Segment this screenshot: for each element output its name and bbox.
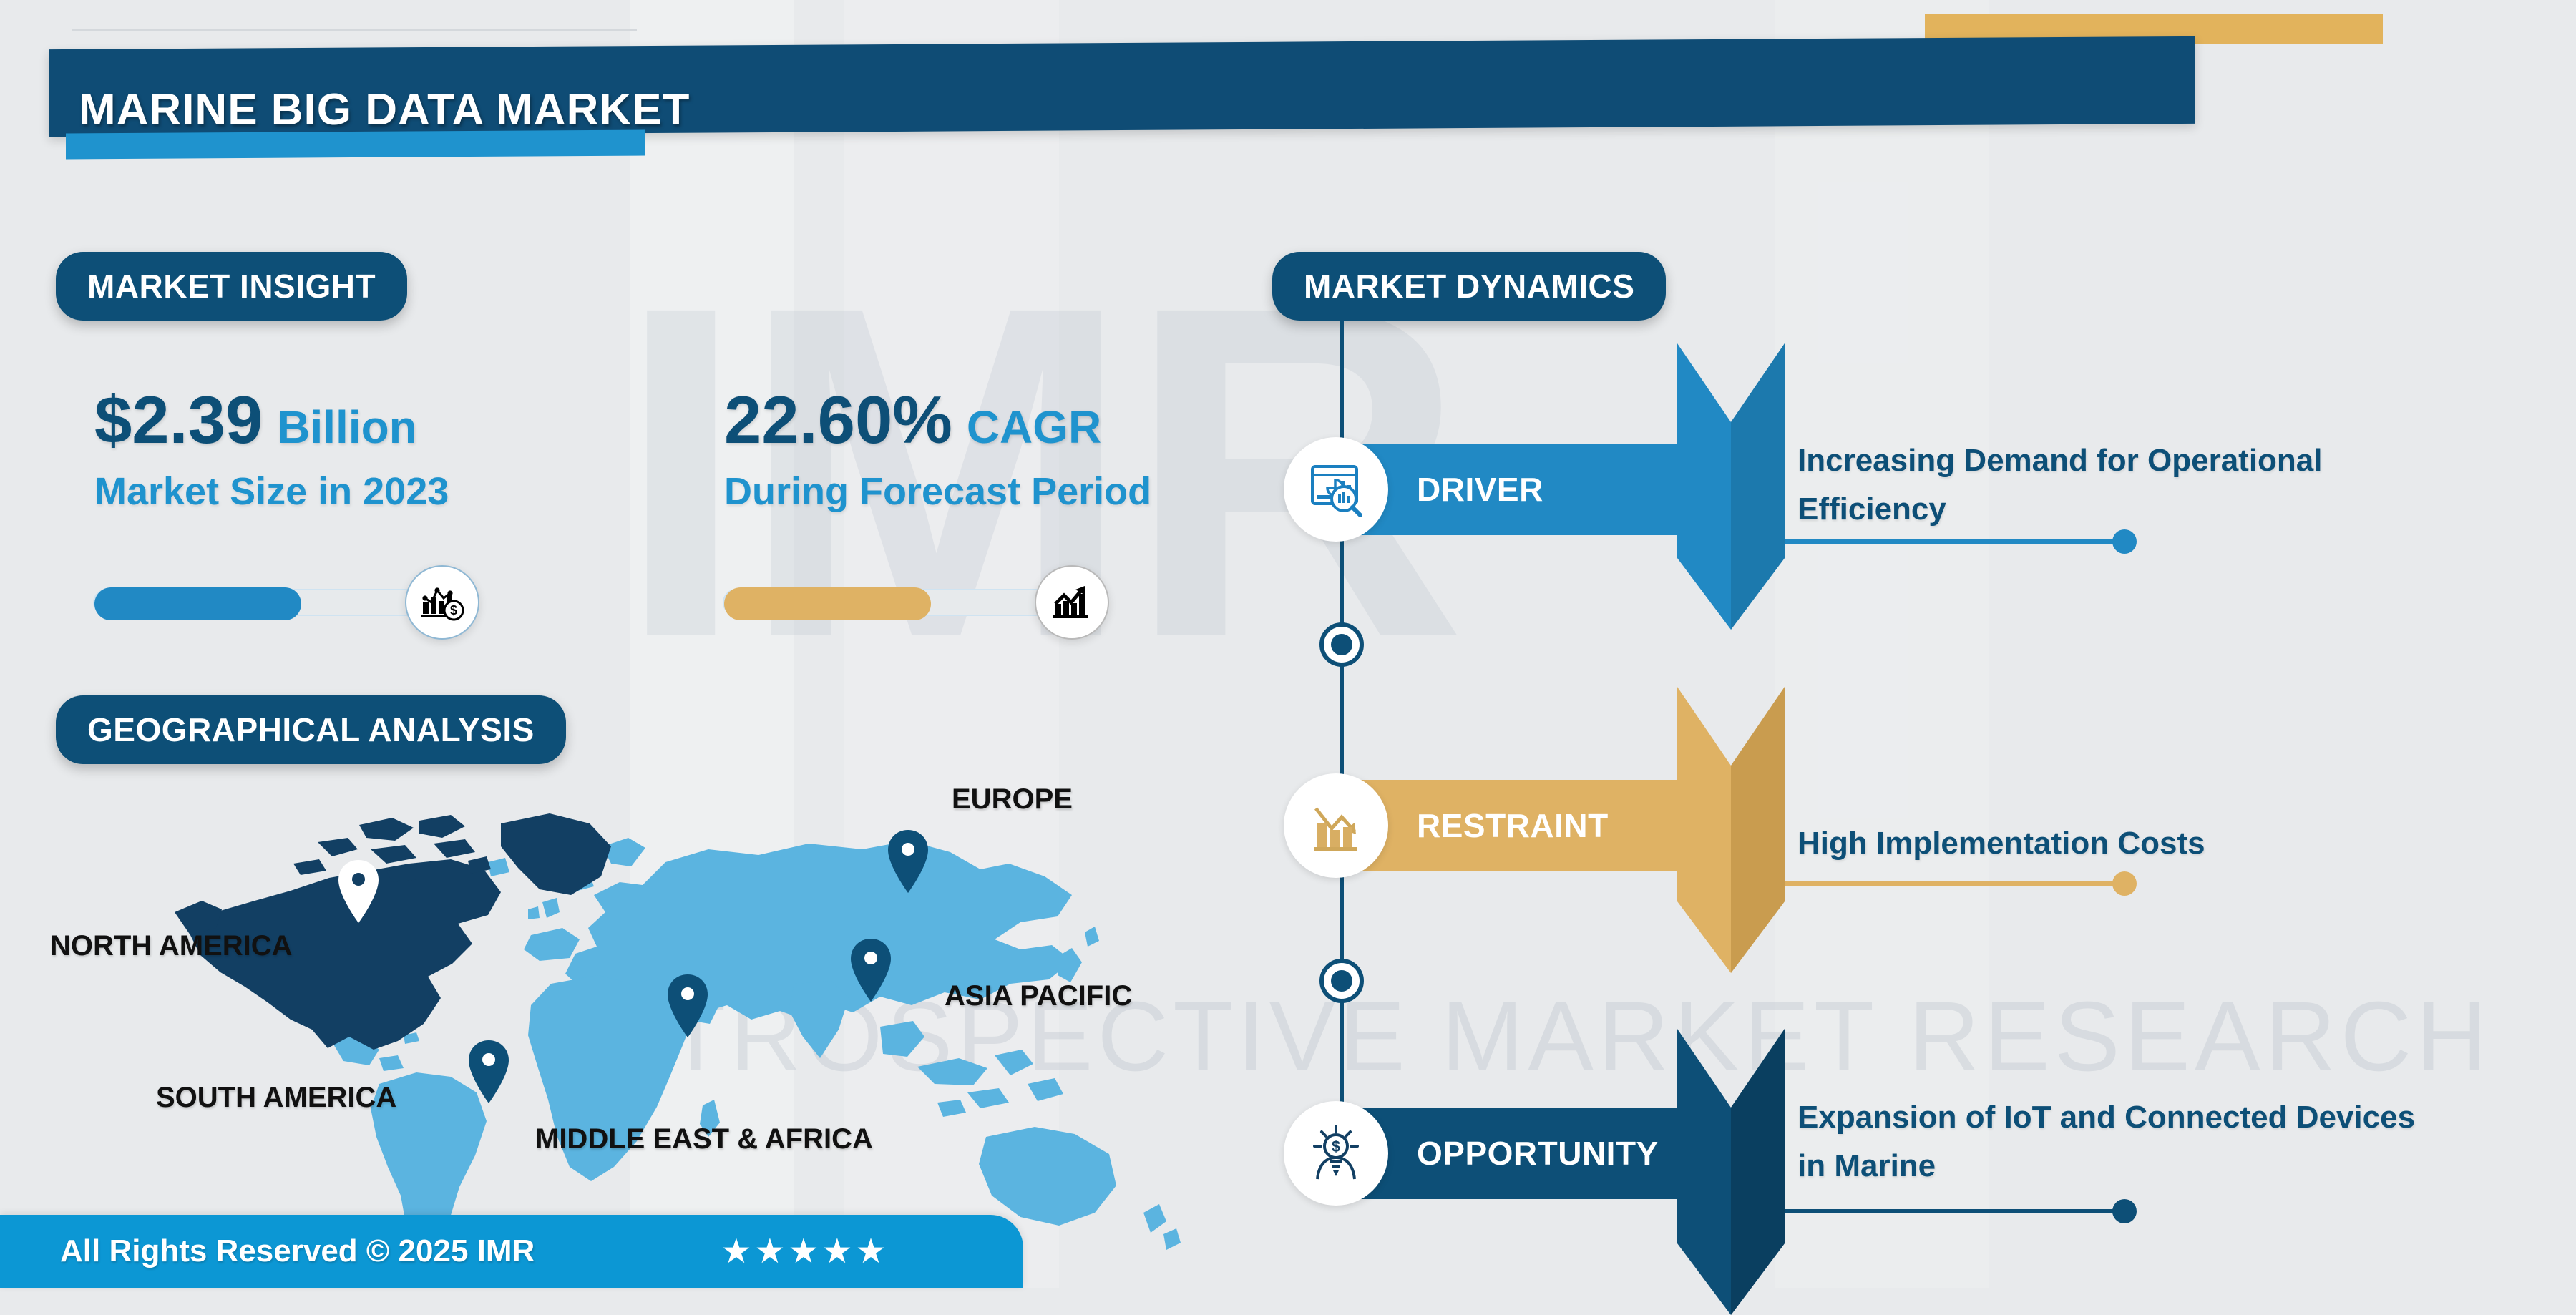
driver-description: Increasing Demand for Operational Effici… (1797, 436, 2427, 534)
header-blue-accent (66, 130, 645, 160)
infographic-canvas: IMR INTROSPECTIVE MARKET RESEARCH MARINE… (0, 0, 2576, 1288)
declining-bar-chart-icon (1284, 773, 1388, 878)
section-label-market-insight: MARKET INSIGHT (56, 252, 407, 321)
bar-chart-dollar-icon: $ (405, 565, 479, 640)
kpi-value-row: $2.39 Billion (94, 386, 449, 454)
opportunity-description: Expansion of IoT and Connected Devices i… (1797, 1093, 2427, 1191)
rating-stars-icon: ★★★★★ (721, 1231, 889, 1271)
region-label-south-america: SOUTH AMERICA (156, 1082, 396, 1114)
region-label-asia-pacific: ASIA PACIFIC (945, 980, 1132, 1012)
market-insight-label: MARKET INSIGHT (87, 267, 376, 305)
progress-track (723, 589, 1059, 616)
progress-track (93, 589, 429, 616)
kpi-market-size: $2.39 Billion Market Size in 2023 (94, 386, 449, 514)
kpi-market-size-unit: Billion (277, 404, 417, 450)
map-pin-europe (886, 828, 930, 894)
header-thin-rule (72, 29, 637, 31)
restraint-label: RESTRAINT (1417, 806, 1609, 845)
map-pin-middle-east-africa (665, 973, 710, 1039)
map-pin-south-america (467, 1039, 511, 1105)
market-size-progress: $ (93, 565, 479, 640)
progress-fill (94, 587, 301, 620)
restraint-leader-dot (2112, 871, 2137, 896)
map-pin-asia-pacific (849, 937, 893, 1003)
region-label-middle-east-africa: MIDDLE EAST & AFRICA (535, 1123, 873, 1155)
restraint-description: High Implementation Costs (1797, 819, 2205, 868)
market-dynamics-label: MARKET DYNAMICS (1304, 267, 1634, 305)
svg-text:$: $ (450, 603, 457, 617)
copyright-text: All Rights Reserved © 2025 IMR (60, 1233, 535, 1269)
svg-text:$: $ (1332, 1138, 1340, 1155)
lightbulb-dollar-icon: $ (1284, 1101, 1388, 1206)
opportunity-label: OPPORTUNITY (1417, 1134, 1659, 1173)
kpi-value-row: 22.60% CAGR (724, 386, 1151, 454)
region-label-north-america: NORTH AMERICA (50, 930, 293, 962)
section-label-geographical-analysis: GEOGRAPHICAL ANALYSIS (56, 695, 566, 764)
cagr-progress (723, 565, 1109, 640)
dynamics-node-connector (1319, 959, 1364, 1003)
kpi-cagr-caption: During Forecast Period (724, 469, 1151, 514)
section-label-market-dynamics: MARKET DYNAMICS (1272, 252, 1666, 321)
driver-label: DRIVER (1417, 470, 1543, 509)
region-label-europe: EUROPE (952, 783, 1073, 816)
growth-arrow-chart-icon (1035, 565, 1109, 640)
restraint-chevron (1677, 687, 1785, 973)
driver-leader-dot (2112, 529, 2137, 554)
opportunity-leader-dot (2112, 1199, 2137, 1223)
dynamics-node-connector (1319, 622, 1364, 667)
kpi-cagr-value: 22.60% (724, 386, 952, 454)
page-title: MARINE BIG DATA MARKET (79, 84, 690, 135)
map-pin-north-america (336, 859, 381, 924)
kpi-market-size-caption: Market Size in 2023 (94, 469, 449, 514)
dashboard-analytics-search-icon (1284, 437, 1388, 542)
opportunity-chevron (1677, 1029, 1785, 1315)
footer-bar: All Rights Reserved © 2025 IMR ★★★★★ (0, 1215, 1023, 1288)
kpi-cagr: 22.60% CAGR During Forecast Period (724, 386, 1151, 514)
geographical-analysis-label: GEOGRAPHICAL ANALYSIS (87, 710, 535, 749)
kpi-market-size-value: $2.39 (94, 386, 263, 454)
opportunity-leader-line (1785, 1209, 2121, 1213)
driver-leader-line (1785, 539, 2121, 544)
progress-fill (724, 587, 931, 620)
restraint-leader-line (1785, 881, 2121, 886)
driver-chevron (1677, 343, 1785, 630)
kpi-cagr-unit: CAGR (967, 404, 1101, 450)
